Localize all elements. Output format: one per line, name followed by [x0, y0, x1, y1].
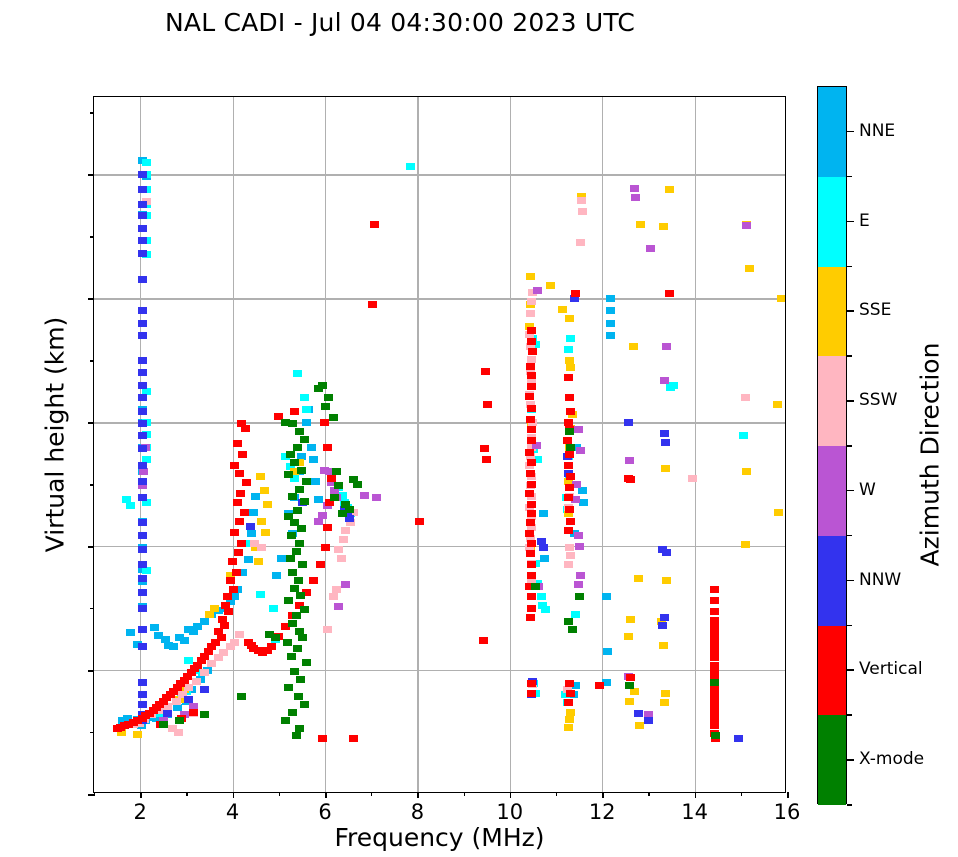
data-point-vertical — [527, 501, 536, 508]
y-tick-mark — [88, 422, 94, 424]
data-point-nnw — [658, 622, 667, 629]
data-point-ssw — [337, 555, 346, 562]
x-tick-label: 14 — [665, 800, 725, 824]
plot-clip — [94, 97, 785, 792]
data-point-w — [742, 222, 751, 229]
data-point-sse — [629, 343, 638, 350]
data-point-sse — [254, 558, 263, 565]
data-point-nne — [249, 509, 258, 516]
data-point-nnw — [660, 614, 669, 621]
data-point-x-mode — [531, 583, 540, 590]
x-tick-minor — [556, 792, 557, 796]
x-tick-minor — [464, 792, 465, 796]
data-point-w — [341, 581, 350, 588]
data-point-nne — [277, 555, 286, 562]
data-point-x-mode — [300, 701, 309, 708]
data-point-ssw — [577, 197, 586, 204]
data-point-vertical — [290, 408, 299, 415]
data-point-x-mode — [353, 481, 362, 488]
data-point-x-mode — [302, 478, 311, 485]
data-point-x-mode — [288, 569, 297, 576]
data-point-e — [541, 606, 550, 613]
data-point-ssw — [526, 310, 535, 317]
data-point-x-mode — [298, 561, 307, 568]
data-point-vertical — [228, 558, 237, 565]
data-point-sse — [546, 282, 555, 289]
data-point-vertical — [565, 680, 574, 687]
data-point-vertical — [710, 608, 719, 615]
data-point-vertical — [224, 608, 233, 615]
data-point-x-mode — [293, 645, 302, 652]
data-point-nnw — [138, 432, 147, 439]
data-point-x-mode — [284, 684, 293, 691]
data-point-nnw — [138, 250, 147, 257]
data-point-w — [630, 185, 639, 192]
data-point-nnw — [138, 532, 147, 539]
data-point-vertical — [527, 459, 536, 466]
data-point-nnw — [138, 237, 147, 244]
data-point-nne — [606, 295, 615, 302]
data-point-vertical — [526, 470, 535, 477]
data-point-ssw — [172, 698, 181, 705]
data-point-nnw — [200, 686, 209, 693]
data-point-nne — [251, 493, 260, 500]
data-point-ssw — [235, 631, 244, 638]
data-point-x-mode — [302, 659, 311, 666]
data-point-ssw — [207, 660, 216, 667]
x-tick-minor — [94, 792, 95, 796]
x-tick-minor — [648, 792, 649, 796]
data-point-x-mode — [292, 548, 301, 555]
gridline-horizontal — [94, 422, 785, 423]
data-point-nne — [578, 487, 587, 494]
data-point-vertical — [267, 643, 276, 650]
data-point-sse — [659, 223, 668, 230]
data-point-vertical — [223, 593, 232, 600]
data-point-vertical — [527, 405, 536, 412]
data-point-ssw — [741, 394, 750, 401]
colorbar-boundary-tick — [847, 714, 852, 716]
data-point-vertical — [710, 654, 719, 661]
data-point-vertical — [527, 690, 536, 697]
x-axis-title: Frequency (MHz) — [93, 823, 786, 852]
data-point-sse — [774, 509, 783, 516]
data-point-sse — [742, 468, 751, 475]
data-point-ssw — [323, 626, 332, 633]
y-tick-minor — [90, 236, 94, 237]
data-point-x-mode — [293, 507, 302, 514]
data-point-vertical — [564, 419, 573, 426]
data-point-nnw — [184, 696, 193, 703]
data-point-vertical — [368, 301, 377, 308]
data-point-nnw — [138, 408, 147, 415]
data-point-nne — [314, 496, 323, 503]
x-tick-label: 2 — [110, 800, 170, 824]
data-point-vertical — [527, 572, 536, 579]
data-point-nnw — [138, 701, 147, 708]
data-point-vertical — [526, 550, 535, 557]
data-point-sse — [260, 487, 269, 494]
gridline-horizontal — [94, 298, 785, 299]
gridline-horizontal — [94, 546, 785, 547]
data-point-nnw — [138, 546, 147, 553]
data-point-e — [184, 657, 193, 664]
data-point-sse — [624, 633, 633, 640]
data-point-ssw — [576, 239, 585, 246]
data-point-nne — [606, 332, 615, 339]
data-point-x-mode — [292, 612, 301, 619]
data-point-vertical — [232, 569, 241, 576]
figure-canvas: NAL CADI - Jul 04 04:30:00 2023 UTC 2468… — [0, 0, 958, 857]
colorbar-segment-sse — [818, 267, 846, 357]
data-point-vertical — [527, 383, 536, 390]
colorbar-boundary-tick — [847, 355, 852, 357]
data-point-sse — [565, 315, 574, 322]
data-point-vertical — [527, 338, 536, 345]
data-point-x-mode — [288, 620, 297, 627]
x-tick-label: 16 — [757, 800, 817, 824]
data-point-vertical — [527, 540, 536, 547]
data-point-vertical — [566, 408, 575, 415]
data-point-w — [139, 468, 148, 475]
data-point-nnw — [624, 419, 633, 426]
data-point-e — [269, 605, 278, 612]
data-point-vertical — [564, 494, 573, 501]
data-point-sse — [777, 295, 785, 302]
data-point-nne — [606, 320, 615, 327]
y-tick-mark — [88, 794, 94, 796]
colorbar-tick — [847, 759, 854, 761]
data-point-sse — [634, 575, 643, 582]
data-point-sse — [558, 306, 567, 313]
data-point-e — [293, 370, 302, 377]
data-point-nne — [180, 637, 189, 644]
data-point-sse — [564, 724, 573, 731]
data-point-vertical — [525, 449, 534, 456]
y-tick-minor — [90, 112, 94, 113]
colorbar-label-nne: NNE — [859, 121, 895, 141]
data-point-vertical — [236, 490, 245, 497]
data-point-x-mode — [284, 597, 293, 604]
data-point-sse — [636, 221, 645, 228]
data-point-nne — [606, 307, 615, 314]
chart-title: NAL CADI - Jul 04 04:30:00 2023 UTC — [0, 8, 800, 37]
colorbar-label-vertical: Vertical — [859, 659, 923, 679]
x-tick-label: 12 — [572, 800, 632, 824]
data-point-sse — [741, 541, 750, 548]
colorbar-segment-ssw — [818, 356, 846, 446]
data-point-nnw — [138, 225, 147, 232]
data-point-x-mode — [565, 428, 574, 435]
data-point-e — [142, 159, 151, 166]
data-point-vertical — [710, 586, 719, 593]
data-point-sse — [257, 518, 266, 525]
x-tick-mark — [325, 792, 327, 798]
data-point-nne — [602, 593, 611, 600]
data-point-vertical — [710, 722, 719, 729]
data-point-x-mode — [296, 592, 305, 599]
y-tick-mark — [88, 298, 94, 300]
data-point-ssw — [200, 669, 209, 676]
data-point-vertical — [527, 426, 536, 433]
colorbar-title: Azimuth Direction — [916, 305, 945, 605]
colorbar-label-e: E — [859, 211, 870, 231]
y-tick-mark — [88, 174, 94, 176]
colorbar-tick — [847, 400, 854, 402]
data-point-w — [360, 492, 369, 499]
data-point-vertical — [528, 348, 537, 355]
colorbar-boundary-tick — [847, 445, 852, 447]
data-point-vertical — [571, 290, 580, 297]
data-point-x-mode — [300, 436, 309, 443]
data-point-w — [660, 377, 669, 384]
data-point-nnw — [138, 462, 147, 469]
data-point-x-mode — [295, 428, 304, 435]
data-point-w — [320, 467, 329, 474]
data-point-nnw — [138, 589, 147, 596]
data-point-vertical — [240, 509, 249, 516]
data-point-nnw — [138, 212, 147, 219]
data-point-vertical — [527, 372, 536, 379]
data-point-vertical — [320, 419, 329, 426]
data-point-x-mode — [568, 626, 577, 633]
gridline-horizontal — [94, 174, 785, 175]
y-tick-mark — [88, 546, 94, 548]
data-point-vertical — [233, 440, 242, 447]
data-point-vertical — [626, 674, 635, 681]
data-point-sse — [566, 364, 575, 371]
data-point-vertical — [626, 476, 635, 483]
data-point-x-mode — [292, 732, 301, 739]
data-point-vertical — [323, 444, 332, 451]
data-point-sse — [745, 265, 754, 272]
data-point-x-mode — [290, 668, 299, 675]
data-point-x-mode — [297, 467, 306, 474]
y-tick-minor — [90, 608, 94, 609]
data-point-vertical — [595, 682, 604, 689]
data-point-e — [666, 384, 675, 391]
data-point-vertical — [527, 593, 536, 600]
colorbar-boundary-tick — [847, 176, 852, 178]
data-point-nnw — [539, 544, 548, 551]
data-point-nne — [150, 624, 159, 631]
data-point-vertical — [241, 425, 250, 432]
data-point-vertical — [527, 510, 536, 517]
data-point-x-mode — [294, 693, 303, 700]
data-point-sse — [625, 698, 634, 705]
data-point-ssw — [339, 536, 348, 543]
data-point-vertical — [230, 529, 239, 536]
data-point-vertical — [564, 462, 573, 469]
data-point-ssw — [578, 208, 587, 215]
data-point-nnw — [246, 523, 255, 530]
data-point-vertical — [229, 586, 238, 593]
data-point-vertical — [526, 614, 535, 621]
colorbar-segment-e — [818, 177, 846, 267]
data-point-w — [574, 532, 583, 539]
data-point-x-mode — [286, 555, 295, 562]
data-point-x-mode — [295, 540, 304, 547]
data-point-nnw — [138, 605, 147, 612]
data-point-sse — [565, 357, 574, 364]
data-point-nnw — [138, 394, 147, 401]
colorbar-segment-nne — [818, 87, 846, 177]
data-point-w — [574, 426, 583, 433]
colorbar-label-x-mode: X-mode — [859, 749, 924, 769]
data-point-vertical — [566, 518, 575, 525]
data-point-x-mode — [300, 606, 309, 613]
data-point-nnw — [138, 519, 147, 526]
data-point-x-mode — [321, 403, 330, 410]
data-point-vertical — [527, 680, 536, 687]
data-point-x-mode — [324, 394, 333, 401]
colorbar-segment-x-mode — [818, 715, 846, 805]
data-point-vertical — [525, 530, 534, 537]
data-point-vertical — [564, 527, 573, 534]
colorbar-tick — [847, 131, 854, 133]
data-point-sse — [665, 186, 674, 193]
data-point-vertical — [349, 735, 358, 742]
colorbar-tick — [847, 221, 854, 223]
x-tick-label: 4 — [203, 800, 263, 824]
data-point-x-mode — [338, 510, 347, 517]
data-point-nnw — [634, 710, 643, 717]
colorbar-tick — [847, 580, 854, 582]
data-point-w — [662, 343, 671, 350]
data-point-vertical — [480, 445, 489, 452]
data-point-vertical — [316, 561, 325, 568]
x-tick-minor — [279, 792, 280, 796]
data-point-sse — [661, 690, 670, 697]
data-point-x-mode — [237, 693, 246, 700]
data-point-vertical — [238, 451, 247, 458]
data-point-nnw — [138, 494, 147, 501]
data-point-nnw — [138, 575, 147, 582]
colorbar-segment-vertical — [818, 626, 846, 716]
data-point-nnw — [138, 320, 147, 327]
data-point-nnw — [163, 710, 172, 717]
data-point-ssw — [564, 561, 573, 568]
data-point-x-mode — [283, 639, 292, 646]
data-point-w — [533, 287, 542, 294]
data-point-sse — [635, 722, 644, 729]
data-point-nnw — [661, 439, 670, 446]
data-point-vertical — [189, 709, 198, 716]
data-point-ssw — [527, 298, 536, 305]
data-point-vertical — [237, 540, 246, 547]
data-point-vertical — [527, 327, 536, 334]
data-point-nnw — [138, 626, 147, 633]
data-point-sse — [661, 465, 670, 472]
data-point-nne — [247, 530, 256, 537]
data-point-x-mode — [329, 414, 338, 421]
data-point-vertical — [564, 374, 573, 381]
gridline-vertical — [695, 97, 696, 792]
data-point-x-mode — [625, 682, 634, 689]
data-point-x-mode — [334, 482, 343, 489]
x-tick-label: 8 — [387, 800, 447, 824]
data-point-x-mode — [295, 486, 304, 493]
data-point-x-mode — [294, 577, 303, 584]
data-point-nne — [311, 478, 320, 485]
data-point-w — [625, 457, 634, 464]
data-point-w — [646, 245, 655, 252]
data-point-x-mode — [330, 494, 339, 501]
data-point-vertical — [235, 518, 244, 525]
data-point-nnw — [644, 717, 653, 724]
data-point-x-mode — [287, 653, 296, 660]
colorbar-tick — [847, 669, 854, 671]
data-point-nne — [603, 648, 612, 655]
data-point-x-mode — [710, 679, 719, 686]
data-point-nnw — [138, 445, 147, 452]
gridline-vertical — [417, 97, 418, 792]
data-point-x-mode — [298, 634, 307, 641]
data-point-vertical — [566, 690, 575, 697]
data-point-ssw — [688, 475, 697, 482]
x-tick-minor — [371, 792, 372, 796]
data-point-x-mode — [288, 709, 297, 716]
data-point-sse — [662, 577, 671, 584]
data-point-sse — [566, 709, 575, 716]
data-point-sse — [659, 642, 668, 649]
data-point-x-mode — [314, 385, 323, 392]
data-point-x-mode — [566, 444, 575, 451]
data-point-e — [302, 406, 311, 413]
data-point-w — [334, 603, 343, 610]
colorbar-boundary-tick — [847, 535, 852, 537]
x-tick-mark — [140, 792, 142, 798]
data-point-nnw — [660, 430, 669, 437]
x-tick-mark — [695, 792, 697, 798]
data-point-e — [566, 335, 575, 342]
data-point-x-mode — [286, 451, 295, 458]
y-tick-minor — [90, 732, 94, 733]
data-point-x-mode — [287, 532, 296, 539]
data-point-vertical — [525, 490, 534, 497]
data-point-vertical — [710, 597, 719, 604]
data-point-vertical — [565, 506, 574, 513]
data-point-nnw — [662, 549, 671, 556]
x-tick-mark — [510, 792, 512, 798]
data-point-nne — [309, 456, 318, 463]
data-point-sse — [263, 501, 272, 508]
data-point-vertical — [234, 549, 243, 556]
data-point-x-mode — [200, 711, 209, 718]
data-point-nnw — [138, 171, 147, 178]
data-point-x-mode — [711, 732, 720, 739]
data-point-vertical — [565, 394, 574, 401]
gridline-vertical — [510, 97, 511, 792]
data-point-x-mode — [293, 444, 302, 451]
data-point-e — [256, 591, 265, 598]
y-tick-minor — [90, 484, 94, 485]
data-point-vertical — [230, 462, 239, 469]
data-point-nnw — [138, 643, 147, 650]
data-point-vertical — [483, 401, 492, 408]
data-point-e — [564, 346, 573, 353]
data-point-nnw — [138, 561, 147, 568]
colorbar-segment-nnw — [818, 536, 846, 626]
data-point-ssw — [250, 540, 259, 547]
colorbar-tick — [847, 490, 854, 492]
data-point-x-mode — [175, 717, 184, 724]
data-point-vertical — [525, 393, 534, 400]
data-point-vertical — [565, 451, 574, 458]
data-point-w — [576, 572, 585, 579]
data-point-ssw — [192, 678, 201, 685]
data-point-vertical — [710, 662, 719, 669]
